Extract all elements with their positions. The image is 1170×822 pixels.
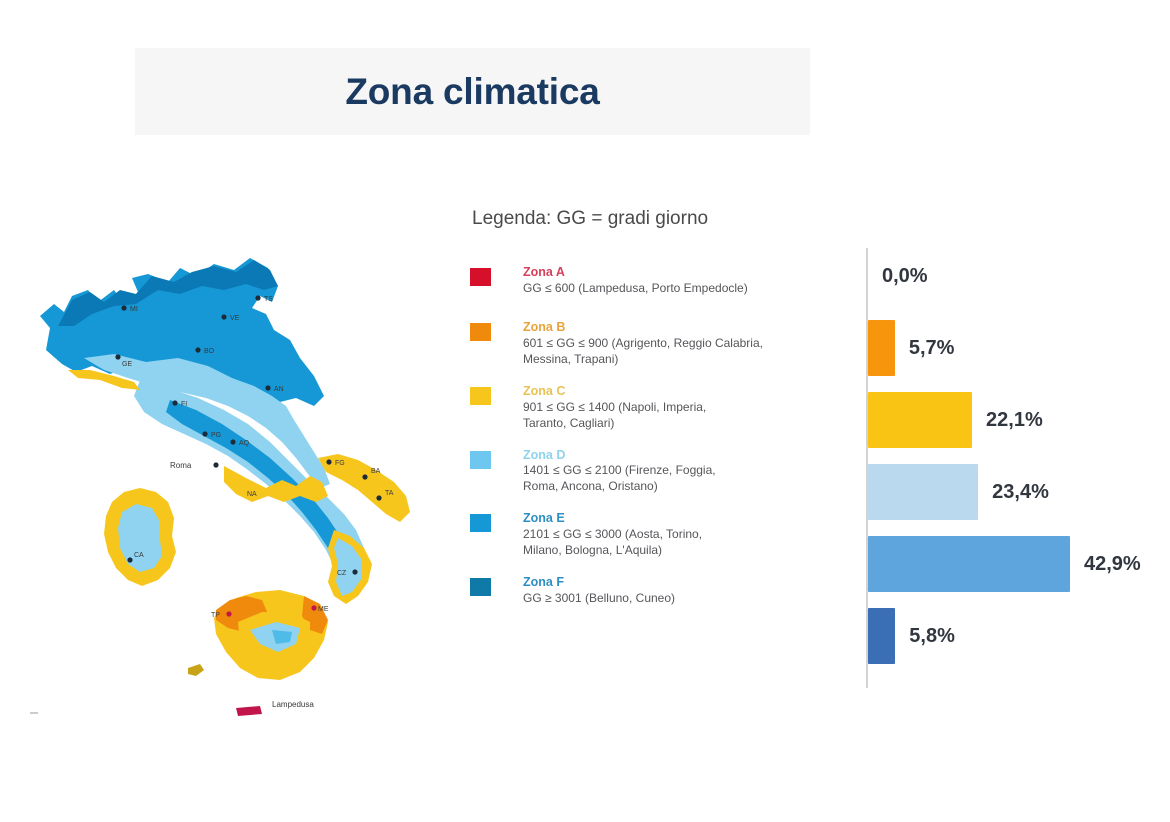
- svg-text:BA: BA: [371, 468, 381, 475]
- svg-text:CZ: CZ: [337, 570, 347, 577]
- legend-swatch-zona-f: [470, 578, 491, 596]
- svg-text:CA: CA: [134, 552, 144, 559]
- bar-value-label-zona-e: 42,9%: [1084, 553, 1141, 576]
- bar-value-label-zona-c: 22,1%: [986, 409, 1043, 432]
- bar-row-zona-e: 42,9%: [868, 536, 1141, 592]
- svg-text:AQ: AQ: [239, 440, 250, 447]
- legend-item-zona-d: Zona D 1401 ≤ GG ≤ 2100 (Firenze, Foggia…: [468, 447, 848, 496]
- legend-zone-desc-d: 1401 ≤ GG ≤ 2100 (Firenze, Foggia, Roma,…: [523, 463, 848, 495]
- italy-climate-map: MI VE TS GE BO FI AN PG AQ Roma NA FG BA: [28, 230, 428, 730]
- svg-text:AN: AN: [274, 386, 284, 393]
- map-region-mainland: [40, 258, 410, 604]
- bar-zona-c: [868, 392, 972, 448]
- legend-item-zona-b: Zona B 601 ≤ GG ≤ 900 (Agrigento, Reggio…: [468, 319, 848, 368]
- legend-swatch-zona-e: [470, 514, 491, 532]
- svg-text:NA: NA: [247, 491, 257, 498]
- legend-zone-label-d: Zona D: [523, 447, 848, 464]
- bar-row-zona-f: 5,8%: [868, 608, 955, 664]
- legend-item-zona-c: Zona C 901 ≤ GG ≤ 1400 (Napoli, Imperia,…: [468, 383, 848, 432]
- legend-zone-desc-f: GG ≥ 3001 (Belluno, Cuneo): [523, 591, 848, 607]
- zone-distribution-bar-chart: 0,0%5,7%22,1%23,4%42,9%5,8%: [866, 248, 1166, 698]
- legend-zone-desc-a: GG ≤ 600 (Lampedusa, Porto Empedocle): [523, 281, 848, 297]
- bar-row-zona-a: 0,0%: [868, 248, 928, 304]
- svg-text:ME: ME: [318, 606, 329, 613]
- page-title: Zona climatica: [345, 71, 599, 113]
- legend-zone-desc-c: 901 ≤ GG ≤ 1400 (Napoli, Imperia, Tarant…: [523, 400, 848, 432]
- legend-zone-desc-b: 601 ≤ GG ≤ 900 (Agrigento, Reggio Calabr…: [523, 336, 848, 368]
- bar-row-zona-d: 23,4%: [868, 464, 1049, 520]
- corner-tick-mark: [30, 712, 38, 714]
- svg-text:MI: MI: [130, 306, 138, 313]
- bar-value-label-zona-d: 23,4%: [992, 481, 1049, 504]
- map-region-sardinia: [104, 488, 176, 586]
- island-lampedusa: [236, 706, 262, 716]
- svg-text:BO: BO: [204, 348, 215, 355]
- legend-zone-label-e: Zona E: [523, 510, 848, 527]
- bar-row-zona-c: 22,1%: [868, 392, 1043, 448]
- bar-zona-d: [868, 464, 978, 520]
- map-svg: MI VE TS GE BO FI AN PG AQ Roma NA FG BA: [28, 230, 428, 730]
- legend-item-zona-e: Zona E 2101 ≤ GG ≤ 3000 (Aosta, Torino, …: [468, 510, 848, 559]
- island-pantelleria: [188, 664, 204, 676]
- legend-zone-label-f: Zona F: [523, 574, 848, 591]
- svg-text:TA: TA: [385, 490, 394, 497]
- legend-panel: Legenda: GG = gradi giorno Zona A GG ≤ 6…: [468, 208, 848, 629]
- svg-text:VE: VE: [230, 315, 240, 322]
- legend-swatch-zona-a: [470, 268, 491, 286]
- legend-swatch-zona-b: [470, 323, 491, 341]
- legend-zone-label-b: Zona B: [523, 319, 848, 336]
- bar-value-label-zona-f: 5,8%: [909, 625, 955, 648]
- svg-text:FI: FI: [181, 401, 187, 408]
- svg-text:TS: TS: [264, 296, 273, 303]
- map-label-lampedusa: Lampedusa: [272, 700, 314, 709]
- bar-value-label-zona-b: 5,7%: [909, 337, 955, 360]
- bar-zona-f: [868, 608, 895, 664]
- legend-item-zona-a: Zona A GG ≤ 600 (Lampedusa, Porto Empedo…: [468, 264, 848, 304]
- svg-text:PG: PG: [211, 432, 221, 439]
- legend-heading: Legenda: GG = gradi giorno: [472, 208, 848, 230]
- map-region-sicily: [214, 590, 328, 680]
- legend-swatch-zona-d: [470, 451, 491, 469]
- legend-zone-label-c: Zona C: [523, 383, 848, 400]
- title-band: Zona climatica: [135, 48, 810, 135]
- svg-text:Roma: Roma: [170, 461, 192, 470]
- bar-zona-e: [868, 536, 1070, 592]
- bar-row-zona-b: 5,7%: [868, 320, 954, 376]
- bar-zona-b: [868, 320, 895, 376]
- legend-swatch-zona-c: [470, 387, 491, 405]
- svg-text:TP: TP: [211, 612, 220, 619]
- svg-text:GE: GE: [122, 361, 132, 368]
- legend-item-zona-f: Zona F GG ≥ 3001 (Belluno, Cuneo): [468, 574, 848, 614]
- bar-value-label-zona-a: 0,0%: [882, 265, 928, 288]
- legend-zone-label-a: Zona A: [523, 264, 848, 281]
- svg-text:FG: FG: [335, 460, 345, 467]
- legend-zone-desc-e: 2101 ≤ GG ≤ 3000 (Aosta, Torino, Milano,…: [523, 527, 848, 559]
